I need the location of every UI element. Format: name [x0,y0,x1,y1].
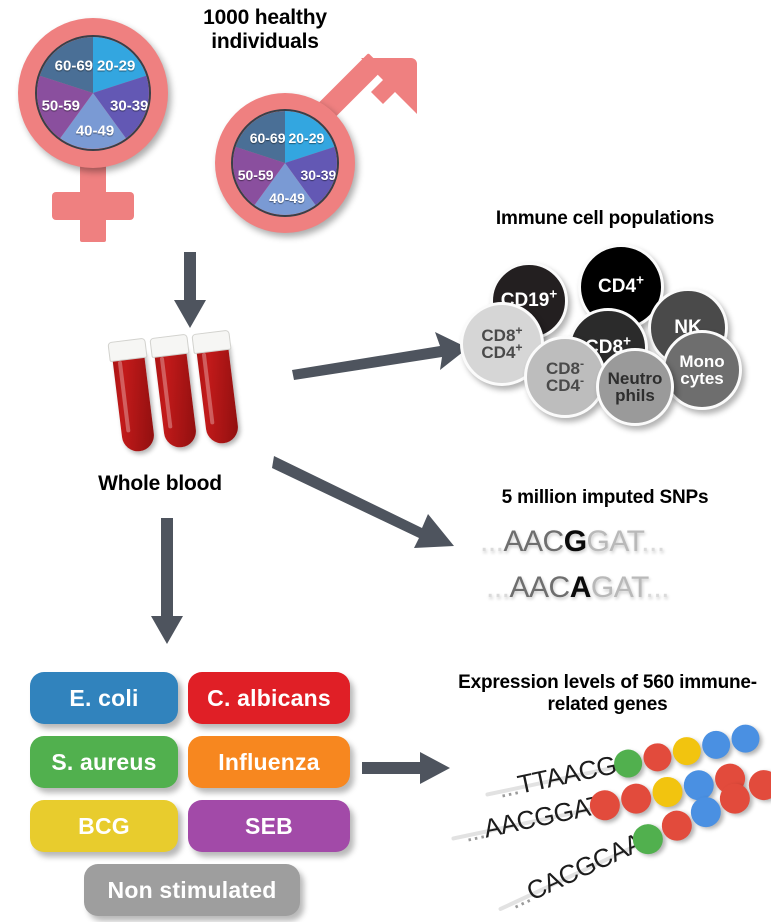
snp-left-bases: AAC [510,571,570,604]
age-slice-label: 40-49 [76,123,114,140]
dna-bead [618,781,654,817]
dna-bead [700,728,733,761]
arrow-stimuli-to-expression [362,752,452,784]
stimulus-box-non-stimulated[interactable]: Non stimulated [84,864,300,916]
snp-prefix-dots: ... [480,525,504,558]
blood-tubes [100,330,260,460]
male-symbol: 20-2930-3940-4950-5960-69 [205,58,420,248]
dna-sequence-text: ...AACGGAT [461,789,605,849]
age-slice-label: 20-29 [97,57,135,74]
stimulus-label: SEB [245,813,293,840]
dna-bead [670,734,703,767]
age-slice-label: 60-69 [250,130,286,146]
dna-sequence-dots: ... [461,814,487,847]
snp-variant-base: A [570,571,591,604]
whole-blood-label: Whole blood [60,472,260,496]
immune-cell-monocytes: Monocytes [662,330,742,410]
female-symbol-cross [52,192,134,220]
male-age-pie: 20-2930-3940-4950-5960-69 [231,109,339,217]
immune-cell-label: CD8+CD4+ [481,327,522,362]
stimulus-box-s-aureus[interactable]: S. aureus [30,736,178,788]
snp-sequence-row: ...AACAGAT... [486,571,669,605]
expression-title: Expression levels of 560 immune-related … [455,672,760,716]
stimulus-label: Influenza [218,749,319,776]
male-symbol-arrow-head [353,58,417,122]
stimulus-box-influenza[interactable]: Influenza [188,736,350,788]
immune-cell-label: Monocytes [679,353,724,388]
stimulus-box-bcg[interactable]: BCG [30,800,178,852]
immune-cell-label: CD4+ [598,277,644,296]
stimulus-label: C. albicans [207,685,331,712]
snp-sequence-list: ...AACGGAT......AACAGAT... [480,525,745,615]
immune-cell-label: CD8-CD4- [546,360,584,395]
stimulus-box-c-albicans[interactable]: C. albicans [188,672,350,724]
snp-right-bases: GAT [591,571,646,604]
arrow-blood-to-snps [272,450,457,555]
immune-cell-neutrophils: Neutrophils [596,348,674,426]
blood-tube [192,328,242,448]
dna-sequence-dots: ... [504,879,535,915]
age-slice-label: 50-59 [42,98,80,115]
immune-cell-populations-title: Immune cell populations [455,208,755,230]
arrow-blood-to-stimuli [145,518,189,646]
stimulus-box-e-coli[interactable]: E. coli [30,672,178,724]
snp-right-bases: GAT [587,525,642,558]
stimulus-label: Non stimulated [108,877,277,904]
female-age-pie: 20-2930-3940-4950-5960-69 [35,35,151,151]
immune-cell-cd8-cd4: CD8-CD4- [524,336,606,418]
snps-title: 5 million imputed SNPs [455,487,755,509]
stimulus-label: BCG [78,813,130,840]
stimulus-label: S. aureus [51,749,156,776]
immune-cell-label: Neutrophils [608,370,663,405]
snp-sequence-row: ...AACGGAT... [480,525,665,559]
arrow-blood-to-immune [290,330,470,380]
arrow-cohort-to-blood [168,252,212,330]
immune-cell-cluster: CD19+CD4+NKCD8+CD4+CD8+MonocytesCD8-CD4-… [460,240,760,415]
figure-canvas: 1000 healthy individuals 20-2930-3940-49… [0,0,771,922]
stimulus-label: E. coli [69,685,138,712]
stimuli-box-list: E. coliC. albicansS. aureusInfluenzaBCGS… [30,672,350,902]
dna-sequence-dots: ... [495,770,521,803]
dna-bead [729,722,762,755]
snp-prefix-dots: ... [486,571,510,604]
snp-suffix-dots: ... [646,571,670,604]
age-slice-label: 20-29 [288,130,324,146]
stimulus-box-seb[interactable]: SEB [188,800,350,852]
age-slice-label: 50-59 [238,167,274,183]
dna-strand-list: ...TTAACGG...AACGGAT...CACGCAA [455,735,771,915]
dna-bead [650,774,686,810]
age-slice-label: 30-39 [300,167,336,183]
snp-variant-base: G [564,525,587,558]
snp-suffix-dots: ... [641,525,665,558]
female-symbol: 20-2930-3940-4950-5960-69 [10,12,190,252]
age-slice-label: 60-69 [55,57,93,74]
page-title: 1000 healthy individuals [170,6,360,55]
age-slice-label: 30-39 [110,98,148,115]
age-slice-label: 40-49 [269,190,305,206]
dna-sequence-text: ...CACGCAA [504,827,648,916]
dna-bead [641,741,674,774]
snp-left-bases: AAC [504,525,564,558]
